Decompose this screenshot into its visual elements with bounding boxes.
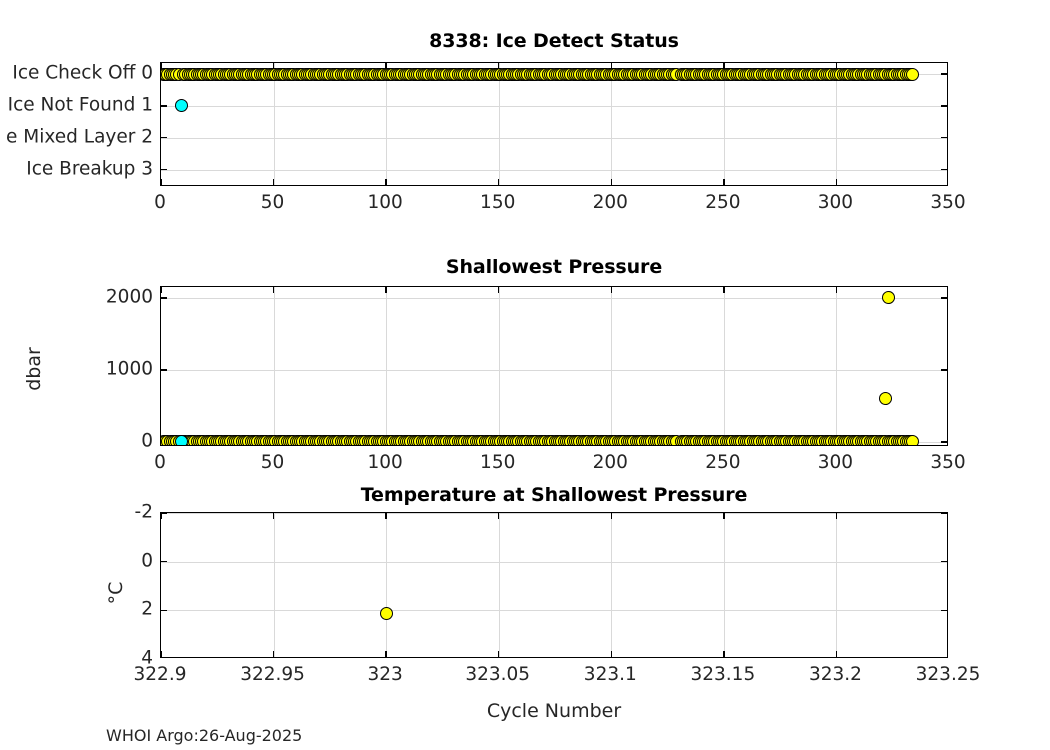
y-tick-label: -2 (135, 502, 160, 523)
gridline-vertical (724, 63, 725, 185)
x-tick-mark (161, 287, 162, 293)
gridline-vertical (386, 513, 387, 657)
x-tick-mark (836, 287, 837, 293)
gridline-vertical (611, 63, 612, 185)
subplot1-x-tick-labels: 050100150200250300350 (160, 192, 948, 218)
gridline-vertical (499, 63, 500, 185)
x-tick-label: 323.25 (916, 664, 981, 685)
y-tick-mark (941, 369, 947, 370)
x-tick-label: 322.9 (134, 664, 187, 685)
x-tick-label: 350 (930, 452, 965, 473)
x-tick-mark (161, 651, 162, 657)
gridline-horizontal (161, 562, 947, 563)
data-point-marker (882, 291, 895, 304)
subplot1-axes (160, 62, 948, 186)
x-tick-mark (836, 179, 837, 185)
x-tick-mark (836, 651, 837, 657)
x-tick-label: 323.2 (809, 664, 862, 685)
subplot2-title: Shallowest Pressure (160, 256, 948, 278)
gridline-vertical (499, 287, 500, 445)
x-tick-mark (161, 513, 162, 519)
gridline-vertical (274, 513, 275, 657)
data-point-marker (175, 435, 188, 445)
data-point-marker (906, 435, 919, 445)
x-tick-mark (273, 513, 274, 519)
gridline-horizontal (161, 170, 947, 171)
gridline-horizontal (161, 138, 947, 139)
subplot1-title: 8338: Ice Detect Status (160, 30, 948, 52)
x-tick-label: 323.05 (465, 664, 530, 685)
y-tick-label: Ice Check Off 0 (12, 63, 160, 84)
y-tick-mark (161, 137, 167, 138)
gridline-vertical (611, 513, 612, 657)
y-tick-mark (161, 297, 167, 298)
data-point-marker (879, 392, 892, 405)
x-tick-mark (836, 513, 837, 519)
x-tick-label: 0 (154, 192, 166, 213)
x-tick-mark (273, 651, 274, 657)
subplot3-plot-area (161, 513, 947, 657)
y-tick-label: e Mixed Layer 2 (6, 126, 160, 147)
x-tick-mark (385, 651, 386, 657)
subplot2-y-tick-labels: 010002000 (30, 286, 160, 446)
subplot3-axes (160, 512, 948, 658)
gridline-vertical (274, 287, 275, 445)
x-tick-label: 200 (593, 452, 628, 473)
x-tick-label: 322.95 (240, 664, 305, 685)
y-tick-mark (941, 105, 947, 106)
y-tick-label: 0 (141, 430, 160, 451)
y-tick-mark (161, 513, 167, 514)
y-tick-mark (161, 169, 167, 170)
subplot3-x-tick-labels: 322.9322.95323323.05323.1323.15323.2323.… (160, 664, 948, 690)
x-tick-label: 323.15 (690, 664, 755, 685)
y-tick-mark (941, 513, 947, 514)
x-tick-mark (385, 287, 386, 293)
x-tick-mark (611, 513, 612, 519)
subplot2-plot-area (161, 287, 947, 445)
x-tick-label: 100 (367, 192, 402, 213)
subplot1-y-tick-labels: Ice Check Off 0Ice Not Found 1e Mixed La… (0, 62, 160, 186)
subplot1-plot-area (161, 63, 947, 185)
x-tick-label: 200 (593, 192, 628, 213)
gridline-horizontal (161, 298, 947, 299)
x-tick-mark (498, 179, 499, 185)
data-point-marker (175, 99, 188, 112)
x-tick-label: 50 (261, 452, 285, 473)
x-tick-label: 323.1 (584, 664, 637, 685)
y-tick-label: Ice Not Found 1 (8, 94, 160, 115)
subplot2-x-tick-labels: 050100150200250300350 (160, 452, 948, 478)
figure-canvas: 8338: Ice Detect Status Ice Check Off 0I… (0, 0, 1050, 750)
x-tick-mark (611, 179, 612, 185)
y-tick-label: 0 (141, 550, 160, 571)
y-tick-mark (941, 561, 947, 562)
footer-credit: WHOI Argo:26-Aug-2025 (106, 726, 302, 745)
data-point-marker (906, 68, 919, 81)
x-tick-mark (723, 513, 724, 519)
x-tick-mark (273, 287, 274, 293)
y-tick-mark (161, 105, 167, 106)
y-tick-label: 1000 (106, 358, 160, 379)
gridline-vertical (386, 287, 387, 445)
gridline-vertical (386, 63, 387, 185)
x-tick-mark (723, 287, 724, 293)
gridline-horizontal (161, 513, 947, 514)
gridline-vertical (499, 513, 500, 657)
x-tick-mark (611, 651, 612, 657)
x-tick-label: 250 (705, 192, 740, 213)
y-tick-mark (161, 561, 167, 562)
gridline-vertical (836, 63, 837, 185)
gridline-horizontal (161, 106, 947, 107)
subplot3-title: Temperature at Shallowest Pressure (160, 484, 948, 506)
gridline-vertical (611, 287, 612, 445)
x-tick-mark (498, 513, 499, 519)
gridline-vertical (836, 287, 837, 445)
x-tick-mark (498, 651, 499, 657)
x-tick-label: 150 (480, 452, 515, 473)
x-tick-mark (611, 287, 612, 293)
x-tick-label: 0 (154, 452, 166, 473)
y-tick-mark (941, 297, 947, 298)
x-tick-mark (161, 179, 162, 185)
y-tick-label: 2 (141, 599, 160, 620)
x-tick-mark (385, 179, 386, 185)
subplot2-y-axis-label: dbar (23, 339, 45, 399)
x-tick-mark (385, 513, 386, 519)
gridline-vertical (724, 513, 725, 657)
x-tick-mark (723, 179, 724, 185)
data-point-marker (380, 607, 393, 620)
subplot3-x-axis-label: Cycle Number (160, 700, 948, 722)
x-tick-label: 350 (930, 192, 965, 213)
gridline-vertical (836, 513, 837, 657)
y-tick-mark (941, 169, 947, 170)
gridline-horizontal (161, 610, 947, 611)
y-tick-mark (161, 369, 167, 370)
subplot2-axes (160, 286, 948, 446)
x-tick-label: 323 (367, 664, 402, 685)
y-tick-mark (941, 610, 947, 611)
x-tick-label: 50 (261, 192, 285, 213)
x-tick-label: 150 (480, 192, 515, 213)
y-tick-label: Ice Breakup 3 (26, 158, 160, 179)
gridline-horizontal (161, 370, 947, 371)
x-tick-mark (723, 651, 724, 657)
x-tick-label: 250 (705, 452, 740, 473)
x-tick-mark (498, 287, 499, 293)
gridline-vertical (274, 63, 275, 185)
y-tick-mark (941, 441, 947, 442)
x-tick-mark (273, 179, 274, 185)
subplot3-y-axis-label: °C (105, 563, 127, 623)
y-tick-mark (161, 610, 167, 611)
x-tick-label: 300 (818, 192, 853, 213)
x-tick-label: 300 (818, 452, 853, 473)
y-tick-label: 2000 (106, 286, 160, 307)
y-tick-mark (941, 73, 947, 74)
x-tick-label: 100 (367, 452, 402, 473)
y-tick-mark (941, 137, 947, 138)
gridline-vertical (724, 287, 725, 445)
